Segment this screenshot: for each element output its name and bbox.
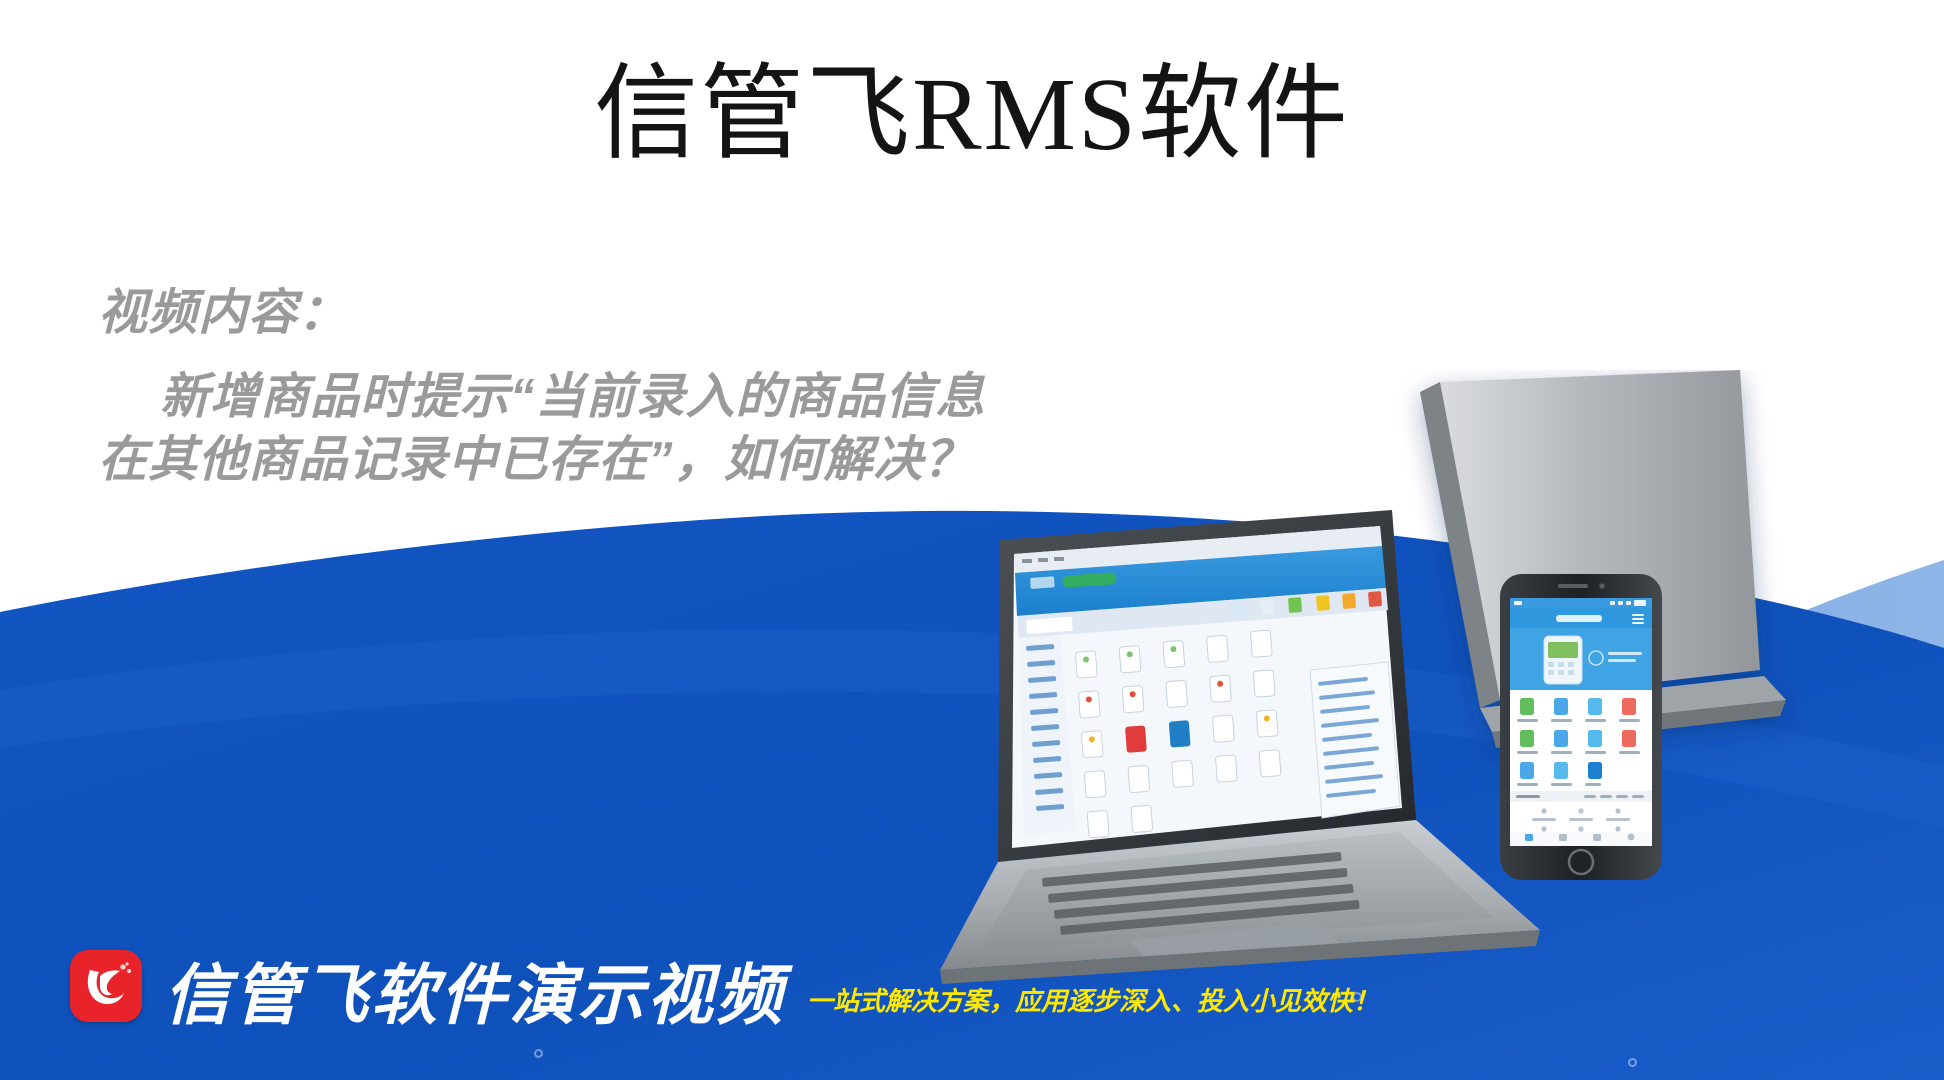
brand-name: 信管飞软件演示视频	[164, 962, 785, 1028]
device-mockup-group	[880, 370, 1944, 1010]
video-content-label: 视频内容：	[98, 282, 986, 346]
laptop-front	[940, 510, 1540, 984]
decorative-dot-1	[534, 1049, 543, 1058]
page-title: 信管飞RMS软件	[0, 50, 1944, 180]
phone-camera-icon	[1599, 583, 1604, 588]
brand-tagline: 一站式解决方案，应用逐步深入、投入小见效快！	[807, 981, 1379, 1018]
video-content-line-2: 在其他商品记录中已存在”，如何解决？	[98, 429, 986, 493]
presentation-slide: 信管飞RMS软件 视频内容： 新增商品时提示“当前录入的商品信息 在其他商品记录…	[0, 0, 1944, 1080]
laptop-right-panel	[1310, 662, 1400, 818]
video-content-line-1: 新增商品时提示“当前录入的商品信息	[98, 366, 986, 430]
video-content-paragraph: 新增商品时提示“当前录入的商品信息 在其他商品记录中已存在”，如何解决？	[98, 366, 986, 493]
phone-app-title	[1556, 615, 1602, 622]
decorative-dot-3	[1628, 1058, 1637, 1067]
video-content-block: 视频内容： 新增商品时提示“当前录入的商品信息 在其他商品记录中已存在”，如何解…	[98, 282, 986, 493]
phone-speaker	[1558, 584, 1588, 588]
brand-bird-icon	[70, 950, 142, 1022]
phone-mockup	[1500, 574, 1662, 880]
footer-brand: 信管飞软件演示视频 一站式解决方案，应用逐步深入、投入小见效快！	[70, 950, 1379, 1028]
phone-menu-icon	[1632, 614, 1644, 624]
